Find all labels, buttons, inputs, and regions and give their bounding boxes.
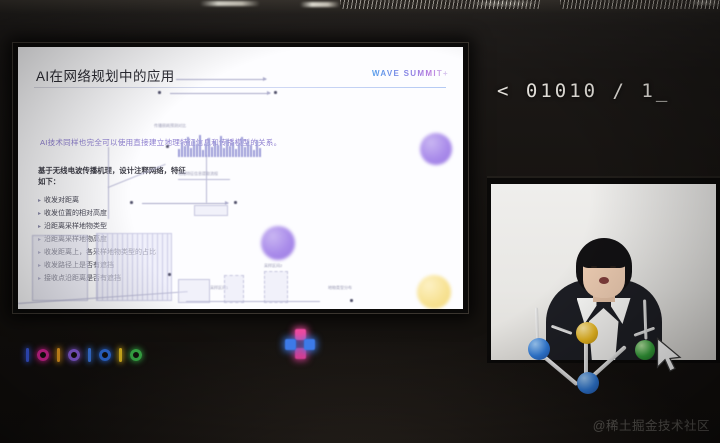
video-frame: AI在网络规划中的应用 WAVE SUMMIT+ AI技术同样也完全可以使用直接… bbox=[0, 0, 720, 443]
diagram-step-2 bbox=[264, 271, 288, 303]
diagram-marker-1 bbox=[158, 91, 161, 94]
diagram-table bbox=[96, 233, 172, 301]
neon-glyph-one-2 bbox=[57, 348, 60, 362]
diagram-block-mid bbox=[194, 205, 228, 216]
cursor-icon bbox=[655, 337, 685, 375]
decorative-orb-purple-2 bbox=[261, 226, 295, 260]
diagram-marker-5 bbox=[234, 201, 237, 204]
diagram-block-left bbox=[32, 235, 88, 301]
diagram-step-1 bbox=[224, 275, 244, 303]
neon-glyph-zero-3 bbox=[99, 349, 111, 361]
molecule-node-yellow-top bbox=[576, 322, 598, 344]
plus-segment-top bbox=[295, 329, 306, 340]
ceiling-vent-right bbox=[560, 0, 720, 9]
molecule-edge-7 bbox=[643, 299, 647, 339]
diagram-caption-1: 地理特征信息提取流程 bbox=[178, 171, 218, 177]
diagram-caption-3: 采样区间2 bbox=[264, 263, 282, 269]
diagram-arrow-top2 bbox=[170, 93, 270, 94]
ceiling-strip-light-1 bbox=[200, 1, 260, 6]
ceiling-vent-left bbox=[340, 0, 540, 9]
diagram-step-baseline bbox=[186, 301, 320, 302]
diagram-marker-3 bbox=[166, 145, 169, 148]
neon-binary-decoration bbox=[26, 348, 142, 362]
neon-glyph-one-3 bbox=[88, 348, 91, 362]
title-divider bbox=[34, 87, 446, 88]
watermark: @稀土掘金技术社区 bbox=[593, 415, 710, 434]
ceiling-strip-light-2 bbox=[300, 2, 340, 7]
diagram-block-bottom bbox=[178, 279, 210, 303]
list-item: 收发位置的相对高度 bbox=[38, 208, 198, 221]
projection-screen: AI在网络规划中的应用 WAVE SUMMIT+ AI技术同样也完全可以使用直接… bbox=[12, 42, 469, 314]
molecule-edge-6 bbox=[551, 325, 573, 335]
molecule-model bbox=[520, 300, 720, 410]
diagram-marker-6 bbox=[168, 273, 171, 276]
molecule-node-blue-center bbox=[577, 372, 599, 394]
decorative-orb-purple-1 bbox=[420, 133, 452, 165]
slide-title: AI在网络规划中的应用 bbox=[36, 65, 175, 85]
presenter-eye-left bbox=[591, 266, 597, 269]
neon-glyph-one-4 bbox=[119, 348, 122, 362]
plus-segment-bottom bbox=[295, 348, 306, 359]
diagram-caption-4: 地物类型分布 bbox=[328, 285, 352, 291]
presenter-bangs bbox=[579, 242, 629, 268]
diagram-marker-2 bbox=[274, 91, 277, 94]
molecule-node-green-right bbox=[635, 340, 655, 360]
binary-code-overlay: < 01010 / 1_ bbox=[497, 80, 670, 102]
neon-glyph-zero-1 bbox=[37, 349, 49, 361]
neon-glyph-zero-4 bbox=[130, 349, 142, 361]
list-item: 收发对距离 bbox=[38, 195, 198, 208]
neon-glyph-zero-2 bbox=[68, 349, 80, 361]
plus-segment-right bbox=[304, 339, 315, 350]
presenter-eye-right bbox=[610, 266, 616, 269]
diagram-marker-7 bbox=[350, 299, 353, 302]
diagram-axis-1 bbox=[108, 147, 109, 219]
diagram-connector-2 bbox=[178, 179, 230, 180]
neon-glyph-one-1 bbox=[26, 348, 29, 362]
diagram-caption-2: 传播损耗预测对比 bbox=[154, 123, 186, 129]
decorative-orb-yellow bbox=[417, 275, 451, 309]
presenter-mouth bbox=[599, 277, 609, 284]
diagram-arrow-top bbox=[176, 79, 266, 80]
plus-segment-left bbox=[285, 339, 296, 350]
diagram-bar-chart bbox=[178, 133, 261, 157]
molecule-node-blue-left bbox=[528, 338, 550, 360]
list-item: 沿距离采样地物类型 bbox=[38, 221, 198, 234]
wave-summit-logo: WAVE SUMMIT+ bbox=[372, 69, 449, 78]
diagram-arrow-mid bbox=[142, 203, 228, 204]
plus-decoration bbox=[285, 329, 315, 359]
diagram-marker-4 bbox=[130, 201, 133, 204]
presentation-slide: AI在网络规划中的应用 WAVE SUMMIT+ AI技术同样也完全可以使用直接… bbox=[18, 47, 463, 309]
